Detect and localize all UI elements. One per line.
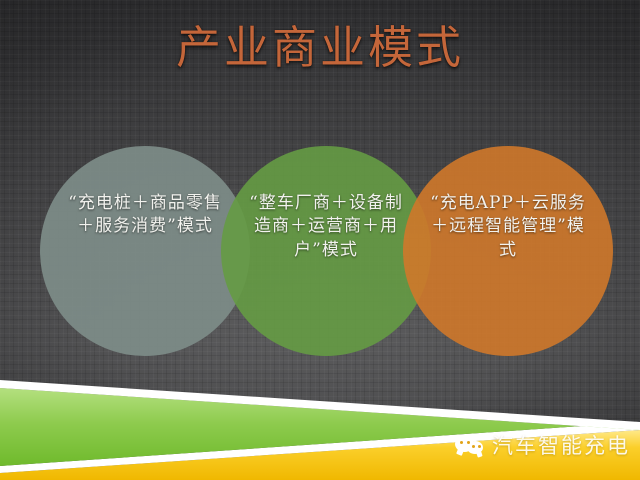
venn-label-charging-retail: “充电桩＋商品零售＋服务消费”模式 (65, 192, 225, 239)
bottom-decoration-bands (0, 360, 640, 480)
venn-label-app-cloud: “充电APP＋云服务＋远程智能管理”模式 (428, 192, 588, 262)
venn-circle-charging-retail (40, 146, 250, 356)
presentation-slide: 产业商业模式 “充电桩＋商品零售＋服务消费”模式 “整车厂商＋设备制造商＋运营商… (0, 0, 640, 480)
wechat-icon (455, 434, 485, 456)
wechat-watermark: 汽车智能充电 (455, 430, 630, 460)
venn-label-vehicle-manufacturing: “整车厂商＋设备制造商＋运营商＋用户”模式 (246, 192, 406, 262)
watermark-text: 汽车智能充电 (492, 430, 630, 460)
